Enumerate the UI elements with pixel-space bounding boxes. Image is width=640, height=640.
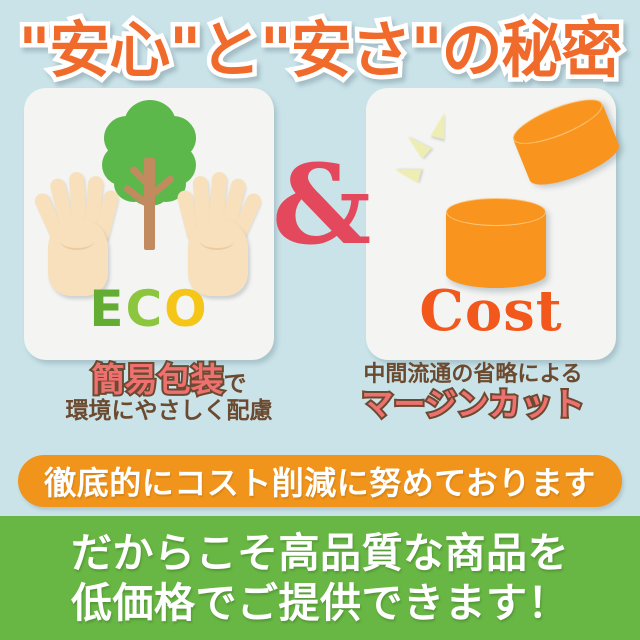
cost-reduction-text: 徹底的にコスト削減に努めております [44,458,596,504]
eco-label: ECO [24,280,274,338]
ampersand-symbol: & [272,150,368,260]
cost-card: Cost [366,88,616,360]
promo-banner: "安心"と"安さ"の秘密 [0,0,640,640]
cost-caption-sub: 中間流通の省略による [318,362,628,387]
hands-icon [180,166,258,296]
footer-line-1: だからこそ高品質な商品を [71,528,569,578]
coin-cylinder-icon [446,198,546,288]
green-footer: だからこそ高品質な商品を 低価格でご提供できます！ [0,516,640,640]
eco-letter-e: E [89,280,125,338]
cost-reduction-banner: 徹底的にコスト削減に努めております [18,455,622,507]
hands-icon [40,166,118,296]
eco-caption-suffix: で [224,371,247,397]
title-area: "安心"と"安さ"の秘密 [0,6,640,82]
impact-spark-icon [403,131,432,159]
flying-coin-icon [508,91,624,194]
cost-label: Cost [366,278,616,344]
eco-caption-sub: 環境にやさしく配慮 [14,398,324,424]
eco-caption: 簡易包装で 環境にやさしく配慮 [14,362,324,424]
eco-caption-main: 簡易包装で [14,362,324,398]
eco-letter-o: O [164,280,209,338]
eco-card: ECO [24,88,274,360]
cost-caption-main: マージンカット [318,387,628,422]
eco-caption-main-text: 簡易包装 [92,360,224,399]
impact-spark-icon [393,163,422,184]
page-title: "安心"と"安さ"の秘密 [18,0,621,89]
cost-caption: 中間流通の省略による マージンカット [318,362,628,422]
eco-letter-c: C [125,280,164,338]
footer-line-2: 低価格でご提供できます！ [71,578,569,628]
impact-spark-icon [431,111,452,140]
